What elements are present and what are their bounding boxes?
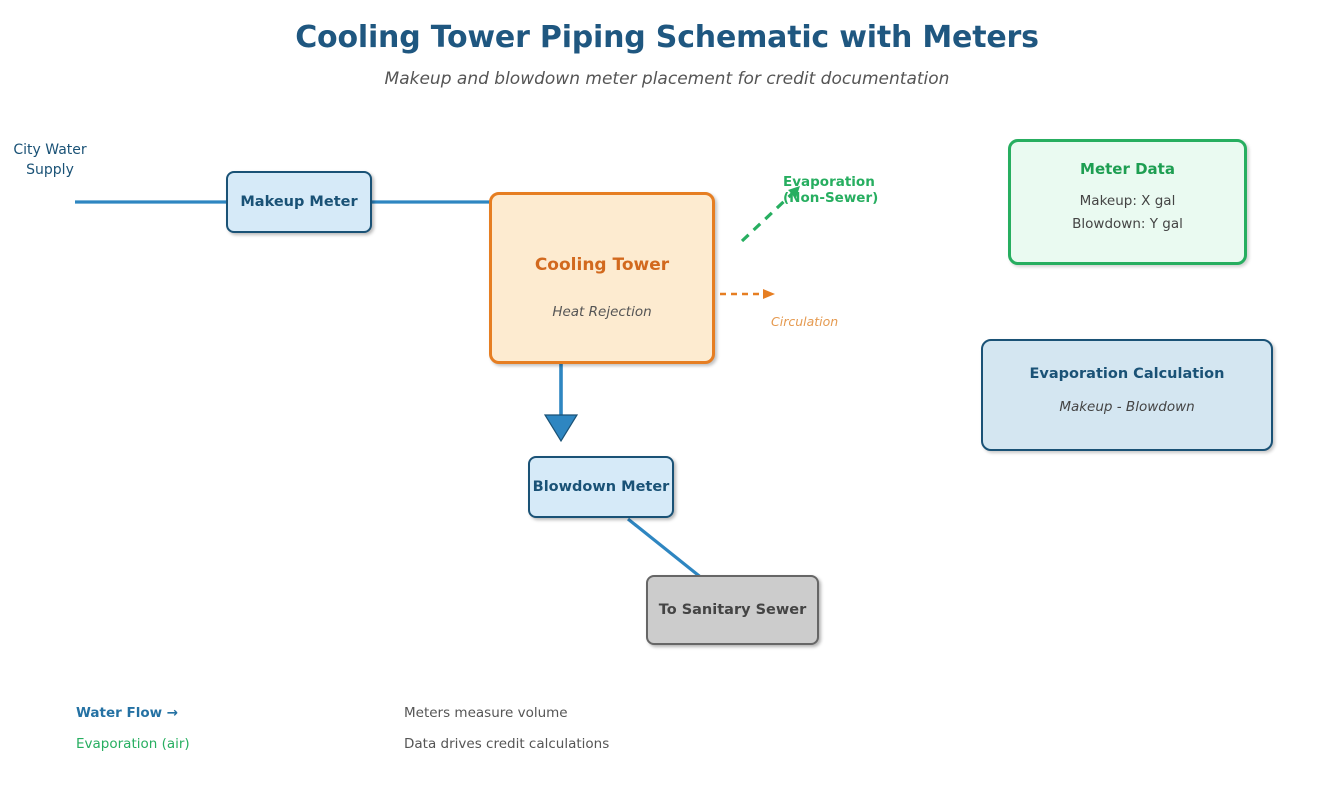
panel-evaporation-calculation-title: Evaporation Calculation bbox=[1030, 365, 1225, 383]
panel-meter-data-row-makeup: Makeup: X gal bbox=[1080, 193, 1176, 209]
node-makeup-meter[interactable]: Makeup Meter bbox=[226, 171, 372, 233]
label-circulation: Circulation bbox=[771, 314, 838, 329]
legend-meters-measure-volume: Meters measure volume bbox=[404, 705, 568, 721]
legend-water-flow: Water Flow → bbox=[76, 705, 178, 721]
node-makeup-meter-label: Makeup Meter bbox=[240, 193, 357, 211]
page-subtitle: Makeup and blowdown meter placement for … bbox=[0, 69, 1334, 89]
panel-evaporation-calculation-formula: Makeup - Blowdown bbox=[1059, 399, 1194, 417]
label-evaporation-non-sewer: Evaporation (Non-Sewer) bbox=[783, 174, 893, 206]
node-sanitary-sewer-label: To Sanitary Sewer bbox=[659, 601, 807, 619]
page-title: Cooling Tower Piping Schematic with Mete… bbox=[0, 20, 1334, 55]
panel-evaporation-calculation[interactable]: Evaporation Calculation Makeup - Blowdow… bbox=[981, 339, 1273, 451]
node-cooling-tower-sublabel: Heat Rejection bbox=[552, 304, 651, 322]
node-blowdown-meter[interactable]: Blowdown Meter bbox=[528, 456, 674, 518]
node-cooling-tower-label: Cooling Tower bbox=[535, 255, 669, 276]
panel-meter-data[interactable]: Meter Data Makeup: X gal Blowdown: Y gal bbox=[1008, 139, 1247, 265]
label-city-water-supply: City Water Supply bbox=[0, 140, 100, 181]
panel-meter-data-title: Meter Data bbox=[1080, 160, 1175, 179]
legend-evaporation-air: Evaporation (air) bbox=[76, 736, 190, 752]
node-cooling-tower[interactable]: Cooling Tower Heat Rejection bbox=[489, 192, 715, 364]
legend-data-drives-credit-calculations: Data drives credit calculations bbox=[404, 736, 609, 752]
node-sanitary-sewer[interactable]: To Sanitary Sewer bbox=[646, 575, 819, 645]
arrowhead-circulation bbox=[763, 289, 775, 299]
pipe-blowdown-meter-to-sanitary-sewer bbox=[628, 519, 703, 579]
arrowhead-down-to-blowdown-meter bbox=[545, 415, 577, 441]
node-blowdown-meter-label: Blowdown Meter bbox=[533, 478, 670, 496]
panel-meter-data-row-blowdown: Blowdown: Y gal bbox=[1072, 216, 1183, 232]
